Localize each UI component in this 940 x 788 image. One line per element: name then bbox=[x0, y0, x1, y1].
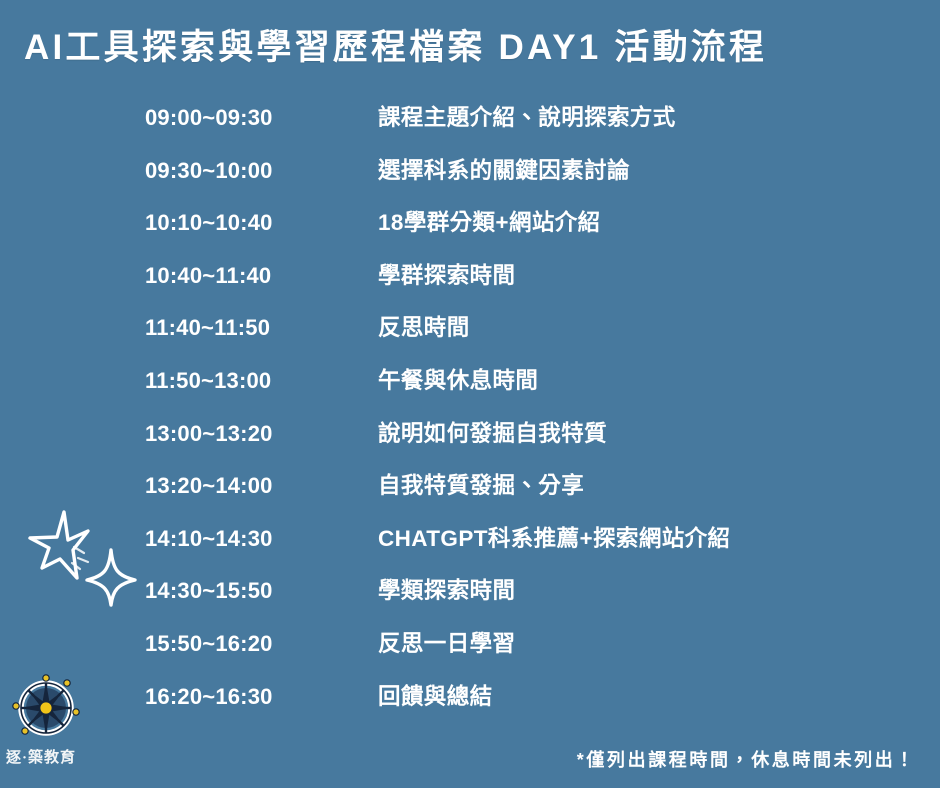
page-title: AI工具探索與學習歷程檔案 DAY1 活動流程 bbox=[24, 24, 916, 72]
schedule-description: 反思一日學習 bbox=[378, 618, 515, 671]
schedule-row: 13:20~14:00 自我特質發掘、分享 bbox=[0, 460, 940, 513]
schedule-row: 15:50~16:20 反思一日學習 bbox=[0, 618, 940, 671]
schedule-description: 18學群分類+網站介紹 bbox=[378, 197, 601, 250]
schedule-time: 11:40~11:50 bbox=[145, 302, 270, 355]
brand-name-text: 逐·築教育 bbox=[6, 746, 114, 767]
schedule-description: 反思時間 bbox=[378, 302, 470, 355]
schedule-description: CHATGPT科系推薦+探索網站介紹 bbox=[378, 513, 730, 566]
schedule-row: 13:00~13:20 說明如何發掘自我特質 bbox=[0, 408, 940, 461]
schedule-description: 選擇科系的關鍵因素討論 bbox=[378, 145, 630, 198]
schedule-time: 14:30~15:50 bbox=[145, 565, 273, 618]
schedule-row: 14:30~15:50 學類探索時間 bbox=[0, 565, 940, 618]
schedule-description: 學群探索時間 bbox=[378, 250, 515, 303]
schedule-time: 11:50~13:00 bbox=[145, 355, 271, 408]
schedule-time: 10:40~11:40 bbox=[145, 250, 271, 303]
compass-rose-icon bbox=[10, 672, 82, 744]
schedule-row: 10:10~10:40 18學群分類+網站介紹 bbox=[0, 197, 940, 250]
schedule-row: 10:40~11:40 學群探索時間 bbox=[0, 250, 940, 303]
schedule-time: 13:00~13:20 bbox=[145, 408, 273, 461]
schedule-time: 09:00~09:30 bbox=[145, 92, 273, 145]
schedule-description: 午餐與休息時間 bbox=[378, 355, 538, 408]
schedule-description: 回饋與總結 bbox=[378, 671, 493, 724]
schedule-time: 10:10~10:40 bbox=[145, 197, 273, 250]
schedule-row: 09:30~10:00 選擇科系的關鍵因素討論 bbox=[0, 145, 940, 198]
schedule-description: 學類探索時間 bbox=[378, 565, 515, 618]
schedule-row: 11:40~11:50 反思時間 bbox=[0, 302, 940, 355]
schedule-description: 課程主題介紹、說明探索方式 bbox=[378, 92, 676, 145]
schedule-time: 13:20~14:00 bbox=[145, 460, 273, 513]
schedule-time: 09:30~10:00 bbox=[145, 145, 273, 198]
schedule-row: 16:20~16:30 回饋與總結 bbox=[0, 671, 940, 724]
schedule-description: 說明如何發掘自我特質 bbox=[378, 408, 607, 461]
schedule-description: 自我特質發掘、分享 bbox=[378, 460, 584, 513]
schedule-time: 15:50~16:20 bbox=[145, 618, 273, 671]
brand-logo: 逐·築教育 bbox=[4, 672, 114, 780]
slide-canvas: AI工具探索與學習歷程檔案 DAY1 活動流程 09:00~09:30 課程主題… bbox=[0, 0, 940, 788]
schedule-row: 14:10~14:30 CHATGPT科系推薦+探索網站介紹 bbox=[0, 513, 940, 566]
schedule-list: 09:00~09:30 課程主題介紹、說明探索方式 09:30~10:00 選擇… bbox=[0, 92, 940, 723]
schedule-time: 16:20~16:30 bbox=[145, 671, 273, 724]
schedule-time: 14:10~14:30 bbox=[145, 513, 273, 566]
schedule-row: 09:00~09:30 課程主題介紹、說明探索方式 bbox=[0, 92, 940, 145]
schedule-row: 11:50~13:00 午餐與休息時間 bbox=[0, 355, 940, 408]
footnote-text: *僅列出課程時間，休息時間未列出！ bbox=[577, 746, 916, 772]
